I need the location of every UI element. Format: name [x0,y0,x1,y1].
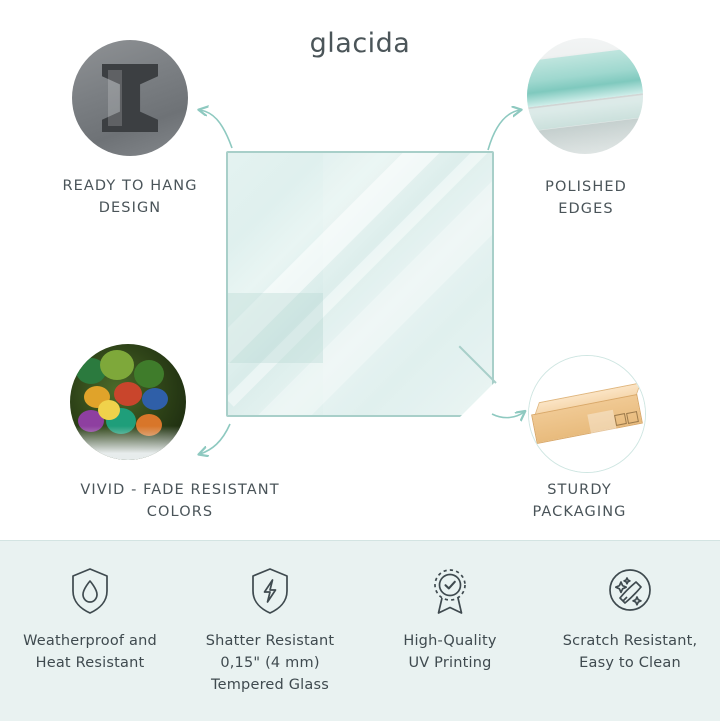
cardboard-box-photo [529,356,645,472]
feature-list: Weatherproof and Heat Resistant Shatter … [0,541,720,721]
bottom-feature-strip: Weatherproof and Heat Resistant Shatter … [0,540,720,721]
art-blob-3 [134,360,164,388]
feature-label-ready-to-hang: READY TO HANG DESIGN [20,175,240,220]
artwork-fade [70,426,186,460]
colorful-artwork-photo [70,344,186,460]
sparkle-cloth-icon [540,563,720,619]
glass-edge-photo [527,38,643,154]
arrow-to-ready-to-hang [200,110,232,148]
feature-image-vivid-colors [70,344,186,460]
feature-image-sturdy-packaging [528,355,646,473]
box-tape [587,410,616,435]
box-label-mark-1 [614,413,627,426]
award-ribbon-check-icon [360,563,540,619]
glass-corner-group [226,151,494,417]
arrow-to-vivid-colors [200,424,230,454]
bottom-feature-scratch-resistant: Scratch Resistant, Easy to Clean [540,563,720,721]
bracket-highlight [108,70,122,126]
arrow-to-sturdy-packaging [492,412,524,418]
glass-corner-edge-line [459,346,497,384]
art-blob-10 [98,400,120,420]
bottom-feature-shatter-resistant: Shatter Resistant 0,15" (4 mm) Tempered … [180,563,360,721]
lightning-shield-icon [180,563,360,619]
bottom-feature-uv-printing: High-Quality UV Printing [360,563,540,721]
product-infographic: glacida READY TO HANG DESIGN POLISHED ED… [0,0,720,720]
feature-label-vivid-colors: VIVID - FADE RESISTANT COLORS [10,479,350,524]
feature-image-ready-to-hang [72,40,188,156]
bottom-feature-weatherproof: Weatherproof and Heat Resistant [0,563,180,721]
wall-mount-bracket-photo [72,40,188,156]
bottom-feature-text: Shatter Resistant 0,15" (4 mm) Tempered … [180,631,360,696]
bottom-feature-text: Scratch Resistant, Easy to Clean [540,631,720,675]
art-blob-2 [100,350,134,380]
water-drop-shield-icon [0,563,180,619]
feature-image-polished-edges [527,38,643,154]
feature-label-sturdy-packaging: STURDY PACKAGING [452,479,707,524]
bottom-feature-text: High-Quality UV Printing [360,631,540,675]
feature-label-polished-edges: POLISHED EDGES [480,176,692,221]
bottom-feature-text: Weatherproof and Heat Resistant [0,631,180,675]
art-blob-6 [142,388,168,410]
glass-cut-corner-icon [459,382,495,418]
arrow-to-polished-edges [488,110,520,150]
art-blob-5 [114,382,142,406]
box-label-mark-2 [626,411,639,424]
